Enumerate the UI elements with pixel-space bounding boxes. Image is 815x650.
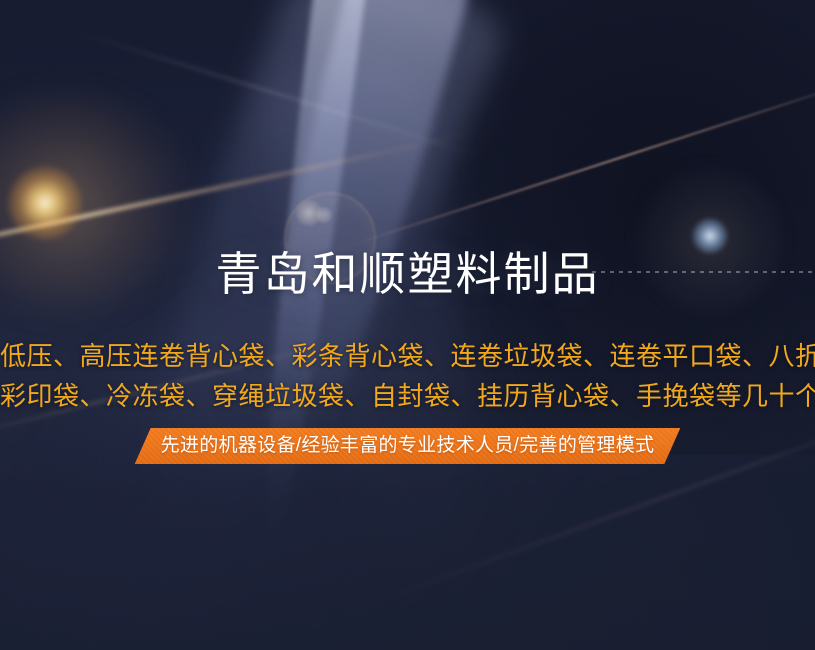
tagline-ribbon: 先进的机器设备/经验丰富的专业技术人员/完善的管理模式 (135, 428, 681, 464)
tagline-text: 先进的机器设备/经验丰富的专业技术人员/完善的管理模式 (161, 428, 655, 464)
promotional-banner: 青岛和顺塑料制品 低压、高压连卷背心袋、彩条背心袋、连卷垃圾袋、连卷平口袋、八折… (0, 0, 815, 650)
product-list-line-2: 彩印袋、冷冻袋、穿绳垃圾袋、自封袋、挂历背心袋、手挽袋等几十个品种 (0, 376, 815, 416)
product-list-line-1: 低压、高压连卷背心袋、彩条背心袋、连卷垃圾袋、连卷平口袋、八折垃圾袋、 (0, 336, 815, 376)
banner-content: 青岛和顺塑料制品 低压、高压连卷背心袋、彩条背心袋、连卷垃圾袋、连卷平口袋、八折… (0, 0, 815, 650)
tagline-ribbon-container: 先进的机器设备/经验丰富的专业技术人员/完善的管理模式 (0, 428, 815, 464)
product-list: 低压、高压连卷背心袋、彩条背心袋、连卷垃圾袋、连卷平口袋、八折垃圾袋、 彩印袋、… (0, 336, 815, 416)
page-title: 青岛和顺塑料制品 (0, 248, 815, 300)
